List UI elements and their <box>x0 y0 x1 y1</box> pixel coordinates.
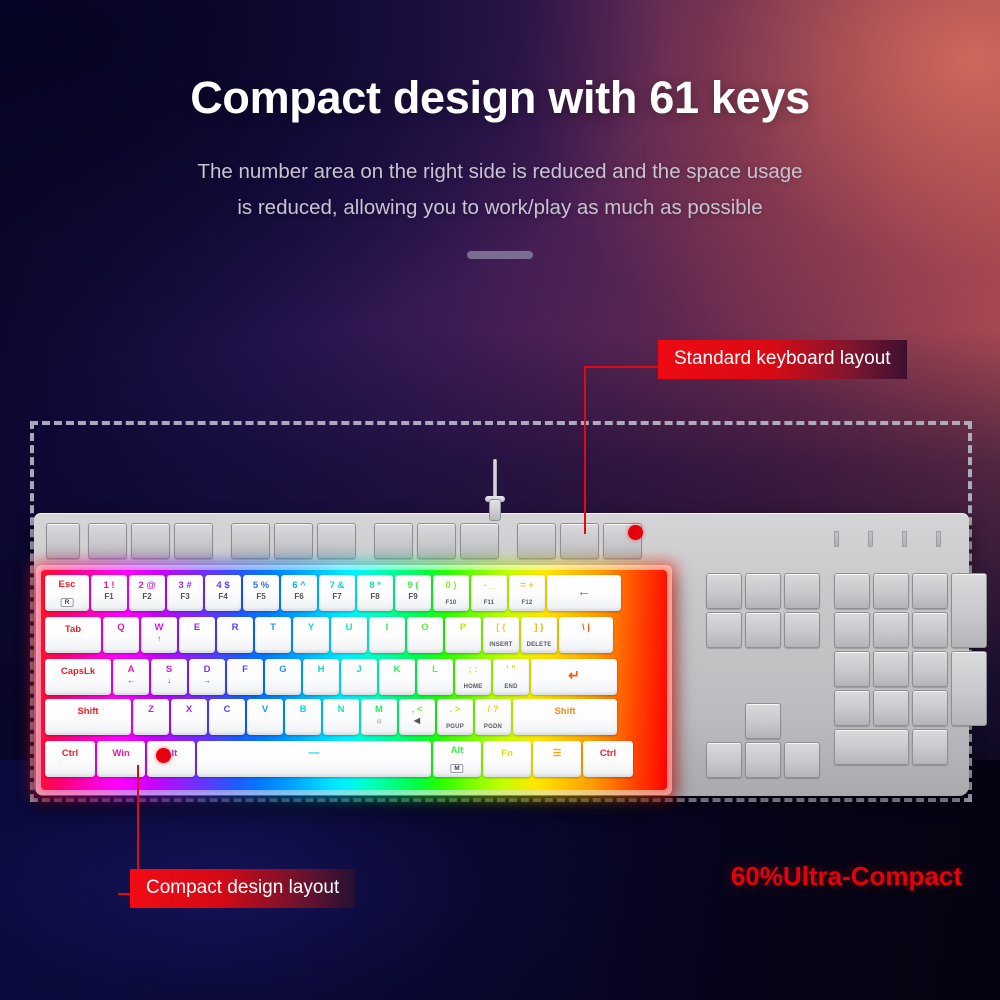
grey-key-numpad-dot <box>912 729 948 765</box>
keycap-label: = + <box>509 581 545 591</box>
keycap-e[interactable]: E <box>179 617 215 653</box>
keycap-label: 5 % <box>243 581 279 591</box>
grey-key-numpad <box>912 651 948 687</box>
keycap-label: , < <box>399 705 435 715</box>
keycap-label: Alt <box>433 745 481 756</box>
keycap-sublabel: F10 <box>433 600 469 606</box>
keyboard-row-shift-row: ShiftZXCVBNM☼, <◀. >PGUP/ ?PGDNShift <box>45 698 663 736</box>
keycap-6[interactable]: 6 ^F6 <box>281 575 317 611</box>
keycap-label: D <box>189 665 225 675</box>
grey-key-nav <box>745 612 781 648</box>
keycap-label: J <box>341 665 377 675</box>
keycap-[interactable]: \ | <box>559 617 613 653</box>
keycap-label: X <box>171 705 207 715</box>
keycap-9[interactable]: 9 (F9 <box>395 575 431 611</box>
keycap-t[interactable]: T <box>255 617 291 653</box>
keycap-[interactable]: , <◀ <box>399 699 435 735</box>
grey-key-function <box>274 523 313 559</box>
grey-key-function <box>317 523 356 559</box>
keycap-sublabel: ← <box>113 676 149 685</box>
grey-key-function <box>560 523 599 559</box>
keycap-label: G <box>265 665 301 675</box>
keycap-n[interactable]: N <box>323 699 359 735</box>
grey-key-numpad <box>834 612 870 648</box>
keycap-label: R <box>217 623 253 633</box>
grey-key-arrow-right <box>784 742 820 778</box>
indicator-led <box>902 531 907 547</box>
keycap-l[interactable]: L <box>417 659 453 695</box>
callout-dot-standard <box>628 525 643 540</box>
keycap-sublabel: F1 <box>91 592 127 601</box>
keycap-sublabel: F8 <box>357 592 393 601</box>
keycap-ctrl[interactable]: Ctrl <box>45 741 95 777</box>
callout-line-standard-horizontal <box>584 366 660 368</box>
keycap-label: L <box>417 665 453 675</box>
grey-key-numpad <box>873 612 909 648</box>
keycap-[interactable]: = +F12 <box>509 575 545 611</box>
keycap-sublabel: DELETE <box>521 642 557 648</box>
keycap-sublabel: F6 <box>281 592 317 601</box>
grey-key-nav <box>745 573 781 609</box>
keycap-label: Q <box>103 623 139 633</box>
keycap-8[interactable]: 8 *F8 <box>357 575 393 611</box>
grey-key-arrow-left <box>706 742 742 778</box>
grey-key-arrow-up <box>745 703 781 739</box>
grey-key-function <box>460 523 499 559</box>
keycap-label: ☰ <box>533 748 581 759</box>
keycap-r[interactable]: R <box>217 617 253 653</box>
keycap-7[interactable]: 7 &F7 <box>319 575 355 611</box>
keycap-shift[interactable]: Shift <box>45 699 131 735</box>
keycap-label: \ | <box>559 623 613 633</box>
indicator-led <box>936 531 941 547</box>
keycap-sublabel: HOME <box>455 684 491 690</box>
keycap-sublabel: F3 <box>167 592 203 601</box>
keycap-label: Tab <box>45 624 101 635</box>
keycap-esc[interactable]: Esc R <box>45 575 89 611</box>
keyboard-row-home-row: CapsLkA←S↓D→FGHJKL; :HOME' "END↵ <box>45 658 663 696</box>
keycap-[interactable]: ← <box>547 575 621 611</box>
keycap-d[interactable]: D→ <box>189 659 225 695</box>
keycap-label: Shift <box>513 706 617 717</box>
keycap-label: S <box>151 665 187 675</box>
keycap-[interactable]: ; :HOME <box>455 659 491 695</box>
keyboard-row-function-number-row: Esc R1 !F12 @F23 #F34 $F45 %F56 ^F67 &F7… <box>45 574 663 612</box>
keycap-label: 8 * <box>357 581 393 591</box>
grey-key-numpad <box>912 612 948 648</box>
keycap-label: A <box>113 665 149 675</box>
keycap-glyph: ↵ <box>531 668 617 682</box>
keycap-z[interactable]: Z <box>133 699 169 735</box>
keycap-[interactable]: — <box>197 741 431 777</box>
grey-key-function <box>174 523 213 559</box>
keycap-0[interactable]: 0 )F10 <box>433 575 469 611</box>
keycap-label: M <box>361 705 397 715</box>
keycap-label: F <box>227 665 263 675</box>
keycap-[interactable]: ' "END <box>493 659 529 695</box>
grey-key-numpad <box>834 573 870 609</box>
keycap-q[interactable]: Q <box>103 617 139 653</box>
keycap-alt[interactable]: Alt <box>147 741 195 777</box>
keycap-ctrl[interactable]: Ctrl <box>583 741 633 777</box>
keycap-label: Fn <box>483 748 531 759</box>
keycap-o[interactable]: O <box>407 617 443 653</box>
keycap-[interactable]: [ {INSERT <box>483 617 519 653</box>
keycap-label: 1 ! <box>91 581 127 591</box>
keycap-glyph: ← <box>547 584 621 598</box>
keycap-3[interactable]: 3 #F3 <box>167 575 203 611</box>
keycap-label: Y <box>293 623 329 633</box>
keycap-label: CapsLk <box>45 666 111 677</box>
keycap-label: K <box>379 665 415 675</box>
keycap-shift[interactable]: Shift <box>513 699 617 735</box>
grey-key-numpad <box>834 651 870 687</box>
grey-key-nav <box>706 612 742 648</box>
cable-connector <box>489 499 501 521</box>
keycap-5[interactable]: 5 %F5 <box>243 575 279 611</box>
keycap-v[interactable]: V <box>247 699 283 735</box>
keycap-sublabel: → <box>189 676 225 685</box>
keycap-label: U <box>331 623 367 633</box>
keycap-label: 6 ^ <box>281 581 317 591</box>
keycap-label: B <box>285 705 321 715</box>
grey-key-numpad-enter <box>951 651 987 726</box>
keycap-i[interactable]: I <box>369 617 405 653</box>
callout-standard-keyboard-layout[interactable]: Standard keyboard layout <box>658 340 907 379</box>
grey-key-numpad <box>912 690 948 726</box>
keycap-w[interactable]: W↑ <box>141 617 177 653</box>
keycap-a[interactable]: A← <box>113 659 149 695</box>
callout-compact-design-layout[interactable]: Compact design layout <box>130 869 355 908</box>
keycap-1[interactable]: 1 !F1 <box>91 575 127 611</box>
keycap-sublabel: ☼ <box>361 716 397 725</box>
grey-key-arrow-down <box>745 742 781 778</box>
grey-key-numpad <box>873 651 909 687</box>
usb-cable <box>487 459 503 519</box>
keycap-c[interactable]: C <box>209 699 245 735</box>
keycap-sublabel: F7 <box>319 592 355 601</box>
keycap-x[interactable]: X <box>171 699 207 735</box>
keycap-sublabel: INSERT <box>483 642 519 648</box>
grey-key-numpad-zero <box>834 729 909 765</box>
keycap-sublabel: M <box>450 764 463 773</box>
keycap-label: W <box>141 623 177 633</box>
keycap-sublabel: ↓ <box>151 676 187 685</box>
keycap-grid: Esc R1 !F12 @F23 #F34 $F45 %F56 ^F67 &F7… <box>45 574 663 786</box>
indicator-led <box>868 531 873 547</box>
keycap-capslk[interactable]: CapsLk <box>45 659 111 695</box>
keycap-label: Alt <box>147 748 195 759</box>
keycap-[interactable]: ↵ <box>531 659 617 695</box>
sixty-percent-white-keyboard[interactable]: Esc R1 !F12 @F23 #F34 $F45 %F56 ^F67 &F7… <box>36 565 672 795</box>
keycap-2[interactable]: 2 @F2 <box>129 575 165 611</box>
keycap-s[interactable]: S↓ <box>151 659 187 695</box>
callout-dot-compact <box>156 748 171 763</box>
keycap-sublabel: ↑ <box>141 634 177 643</box>
keycap-b[interactable]: B <box>285 699 321 735</box>
keycap-label: N <box>323 705 359 715</box>
grey-key-function <box>517 523 556 559</box>
keycap-label: 4 $ <box>205 581 241 591</box>
keycap-label: E <box>179 623 215 633</box>
keycap-sublabel: F4 <box>205 592 241 601</box>
keycap-label: C <box>209 705 245 715</box>
keycap-k[interactable]: K <box>379 659 415 695</box>
keycap-label: 0 ) <box>433 581 469 591</box>
grey-key-numpad <box>873 690 909 726</box>
keycap-alt[interactable]: Alt M <box>433 741 481 777</box>
grey-key-numpad <box>912 573 948 609</box>
keycap-label: Ctrl <box>583 748 633 759</box>
keycap-label: ' " <box>493 665 529 675</box>
keycap-h[interactable]: H <box>303 659 339 695</box>
keycap-m[interactable]: M☼ <box>361 699 397 735</box>
keycap-label: O <box>407 623 443 633</box>
keycap-sublabel: F2 <box>129 592 165 601</box>
keycap-label: ; : <box>455 665 491 675</box>
keycap-sublabel: F12 <box>509 600 545 606</box>
keycap-sublabel: END <box>493 684 529 690</box>
keycap-sublabel: F11 <box>471 600 507 606</box>
keycap-u[interactable]: U <box>331 617 367 653</box>
keycap-label: P <box>445 623 481 633</box>
grey-key-nav <box>784 573 820 609</box>
ultra-compact-badge: 60%Ultra-Compact <box>731 861 962 892</box>
keycap-label: 7 & <box>319 581 355 591</box>
keycap-fn[interactable]: Fn <box>483 741 531 777</box>
keycap-label: I <box>369 623 405 633</box>
keycap-sublabel: F9 <box>395 592 431 601</box>
keycap-j[interactable]: J <box>341 659 377 695</box>
keycap-label: [ { <box>483 623 519 633</box>
keycap-y[interactable]: Y <box>293 617 329 653</box>
keycap-sublabel: PGUP <box>437 724 473 730</box>
keycap-label: Win <box>97 748 145 759</box>
keyboard-row-qwerty-row: TabQW↑ERTYUIOP[ {INSERT] }DELETE\ | <box>45 616 663 654</box>
keycap-label: / ? <box>475 705 511 715</box>
keycap-label: ] } <box>521 623 557 633</box>
keycap-label: 3 # <box>167 581 203 591</box>
keycap-g[interactable]: G <box>265 659 301 695</box>
keyboard-comparison-area: Esc R1 !F12 @F23 #F34 $F45 %F56 ^F67 &F7… <box>0 0 1000 1000</box>
keycap-tab[interactable]: Tab <box>45 617 101 653</box>
grey-key-function <box>131 523 170 559</box>
grey-key-numpad <box>873 573 909 609</box>
keycap-label: V <box>247 705 283 715</box>
grey-key-nav <box>784 612 820 648</box>
keycap-label: T <box>255 623 291 633</box>
keycap-label: Z <box>133 705 169 715</box>
indicator-led <box>834 531 839 547</box>
keycap-label: 2 @ <box>129 581 165 591</box>
keycap-glyph: — <box>197 748 431 759</box>
keycap-[interactable]: - _F11 <box>471 575 507 611</box>
keycap-label: Shift <box>45 706 131 717</box>
keycap-sublabel: F5 <box>243 592 279 601</box>
keycap-[interactable]: ☰ <box>533 741 581 777</box>
grey-key-function <box>374 523 413 559</box>
keycap-label: 9 ( <box>395 581 431 591</box>
keycap-[interactable]: / ?PGDN <box>475 699 511 735</box>
grey-key-function <box>231 523 270 559</box>
keycap-f[interactable]: F <box>227 659 263 695</box>
keycap-[interactable]: ] }DELETE <box>521 617 557 653</box>
keycap-[interactable]: . >PGUP <box>437 699 473 735</box>
keycap-label: Esc <box>45 579 89 590</box>
grey-key-esc <box>46 523 80 559</box>
keycap-sublabel: PGDN <box>475 724 511 730</box>
callout-line-standard-vertical <box>584 367 586 534</box>
keycap-label: - _ <box>471 581 507 591</box>
keycap-label: H <box>303 665 339 675</box>
keycap-label: . > <box>437 705 473 715</box>
grey-key-numpad <box>834 690 870 726</box>
grey-key-function <box>88 523 127 559</box>
grey-key-numpad-plus <box>951 573 987 648</box>
keycap-4[interactable]: 4 $F4 <box>205 575 241 611</box>
keycap-label: Ctrl <box>45 748 95 759</box>
keycap-sublabel: ◀ <box>399 716 435 725</box>
keycap-sublabel: R <box>61 598 74 607</box>
grey-key-function <box>417 523 456 559</box>
grey-key-nav <box>706 573 742 609</box>
keycap-p[interactable]: P <box>445 617 481 653</box>
